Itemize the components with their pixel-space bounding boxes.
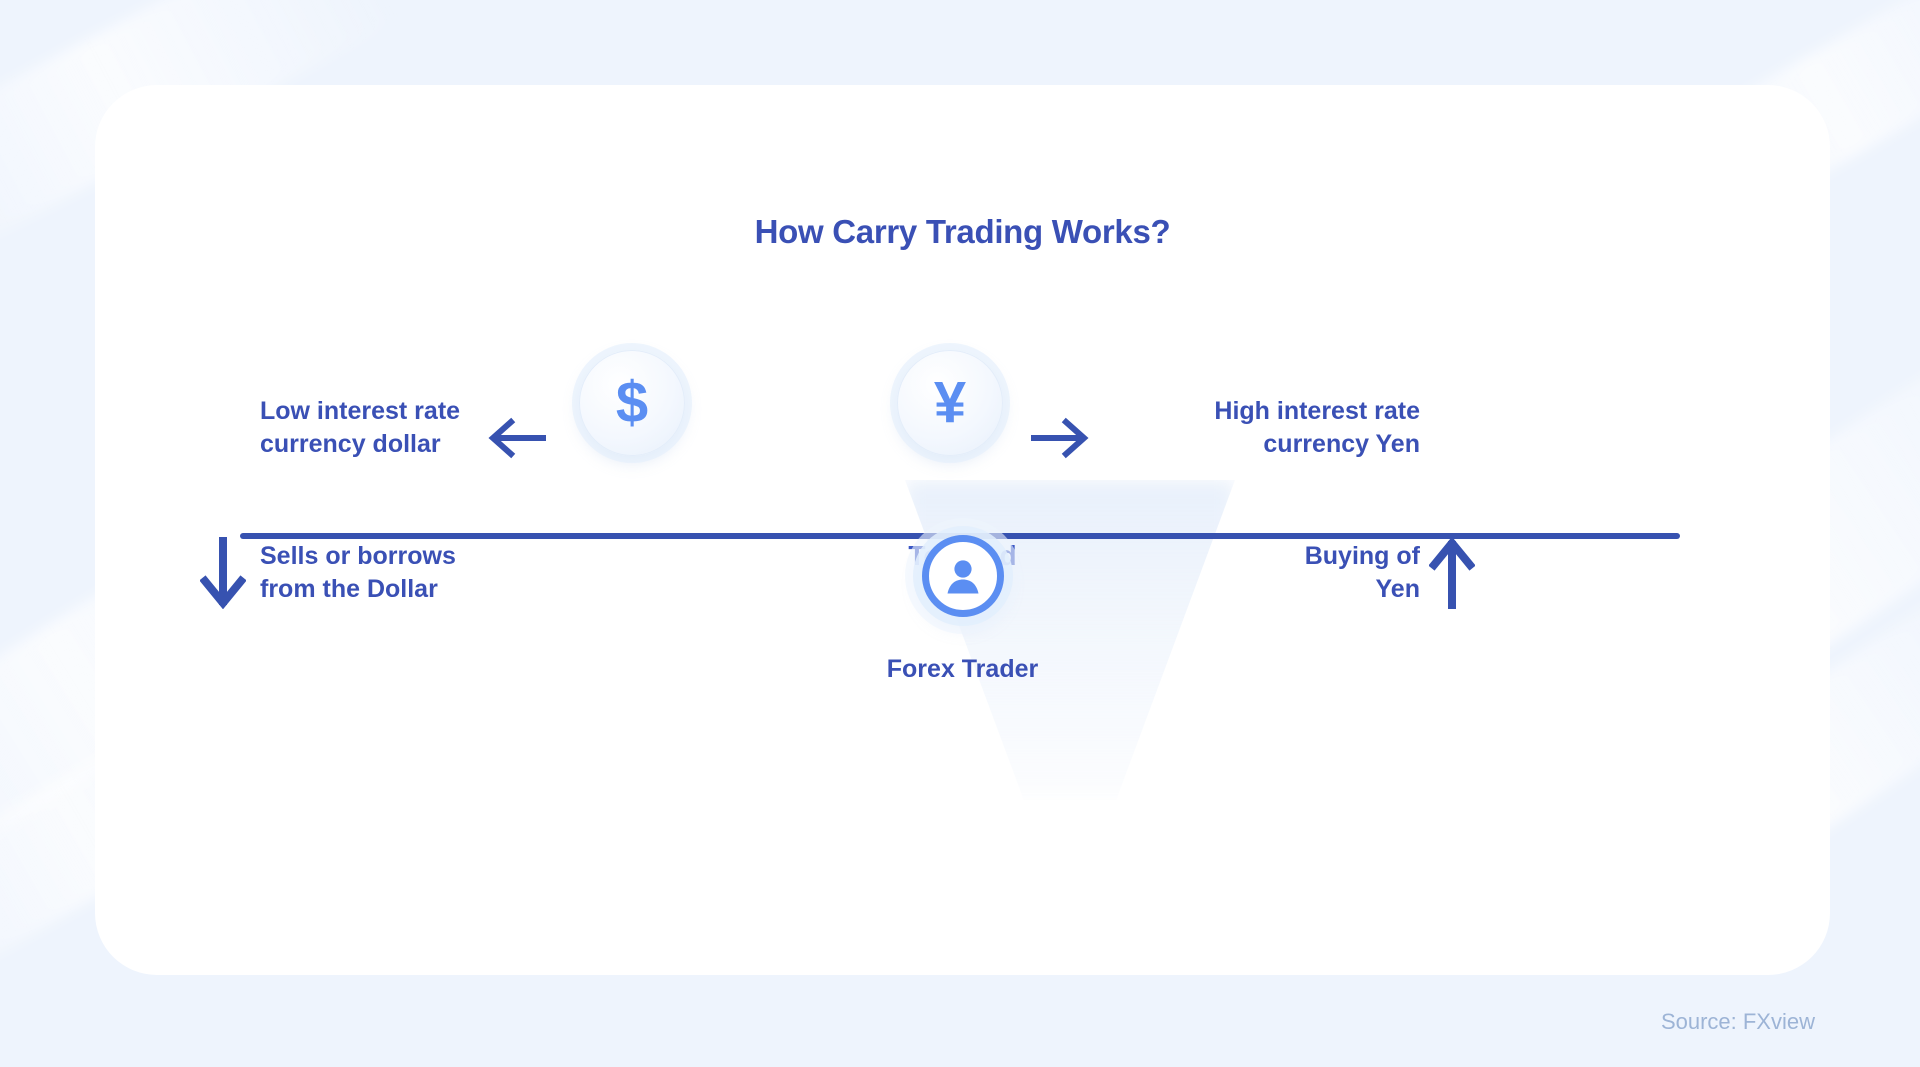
arrow-left-icon (485, 415, 547, 461)
high-interest-label: High interest rate currency Yen (1120, 395, 1420, 461)
page-title: How Carry Trading Works? (95, 213, 1830, 251)
dollar-coin-icon: $ (579, 350, 685, 456)
buying-yen-label: Buying of Yen (1120, 540, 1420, 606)
forex-trader-label: Forex Trader (887, 655, 1038, 684)
yen-symbol: ¥ (934, 374, 966, 432)
forex-trader-group: Forex Trader (95, 535, 1830, 684)
dollar-symbol: $ (616, 374, 648, 432)
yen-coin-icon: ¥ (897, 350, 1003, 456)
arrow-right-icon (1030, 415, 1092, 461)
infographic-card: How Carry Trading Works? Low interest ra… (95, 85, 1830, 975)
source-attribution: Source: FXview (1661, 1009, 1815, 1035)
arrow-up-icon (1429, 537, 1475, 609)
person-avatar-icon (922, 535, 1004, 617)
